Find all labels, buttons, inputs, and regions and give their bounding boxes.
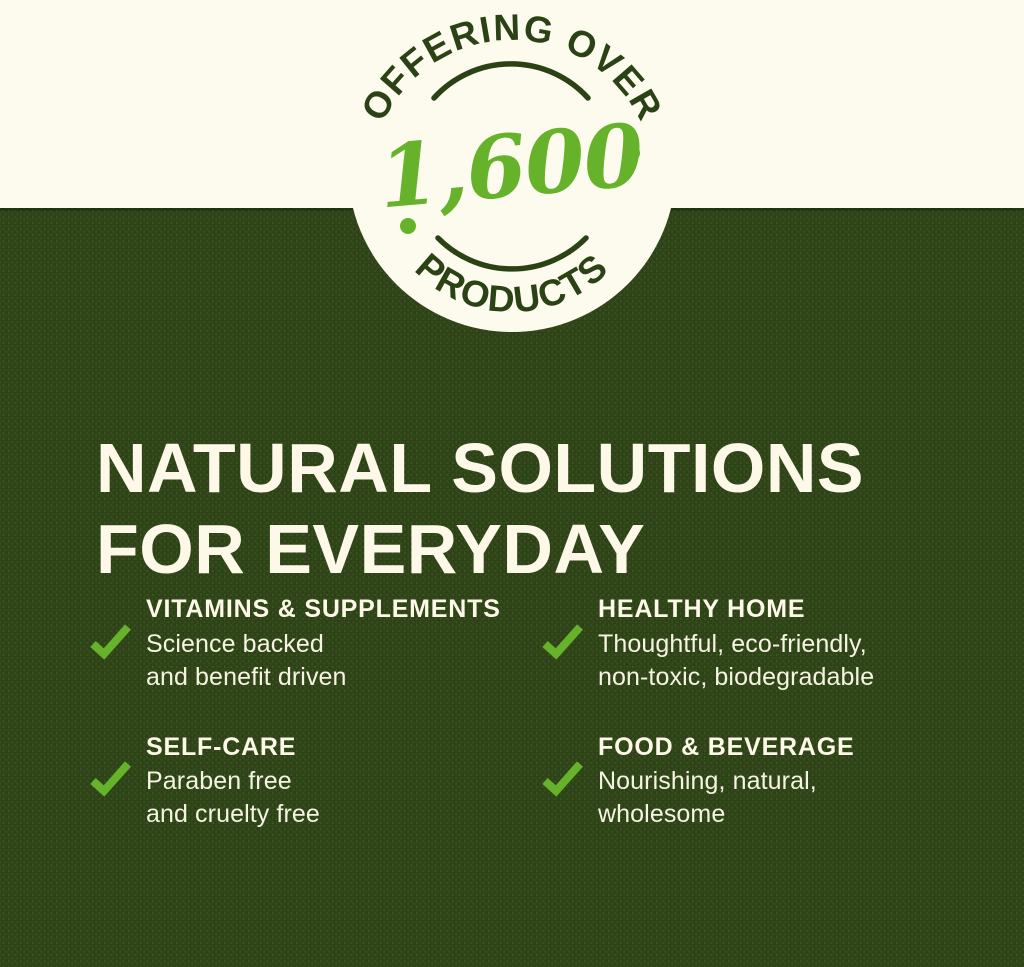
- badge-bottom-arc-text: PRODUCTS: [408, 245, 616, 320]
- feature-description-line: non-toxic, biodegradable: [598, 661, 874, 694]
- feature-description-line: Science backed: [146, 628, 501, 661]
- feature-item-healthy-home: HEALTHY HOME Thoughtful, eco-friendly, n…: [540, 592, 1000, 694]
- feature-title-line: SUPPLEMENTS: [304, 595, 500, 623]
- feature-description: Paraben free and cruelty free: [146, 765, 320, 831]
- feature-title: VITAMINS & SUPPLEMENTS: [146, 594, 501, 626]
- feature-description: Science backed and benefit driven: [146, 628, 501, 694]
- feature-title: HEALTHY HOME: [598, 594, 874, 626]
- feature-description: Thoughtful, eco-friendly, non-toxic, bio…: [598, 628, 874, 694]
- feature-item-vitamins-supplements: VITAMINS & SUPPLEMENTS Science backed an…: [88, 592, 540, 694]
- offering-over-badge: OFFERING OVER 1,600 PRODUCTS: [330, 0, 694, 350]
- badge-product-count: 1,600: [375, 105, 647, 229]
- check-icon: [88, 621, 132, 665]
- feature-title-line: SELF-CARE: [146, 733, 296, 761]
- badge-inner-arc-top: [434, 64, 588, 98]
- feature-description-line: wholesome: [598, 798, 854, 831]
- page-title-line-1: NATURAL SOLUTIONS: [96, 428, 976, 509]
- feature-description-line: Nourishing, natural,: [598, 765, 854, 798]
- feature-list: VITAMINS & SUPPLEMENTS Science backed an…: [88, 592, 1000, 831]
- feature-title-line: FOOD & BEVERAGE: [598, 733, 854, 761]
- feature-item-food-beverage: FOOD & BEVERAGE Nourishing, natural, who…: [540, 730, 1000, 832]
- feature-description: Nourishing, natural, wholesome: [598, 765, 854, 831]
- feature-body: SELF-CARE Paraben free and cruelty free: [146, 730, 320, 832]
- feature-title: SELF-CARE: [146, 732, 320, 764]
- feature-body: VITAMINS & SUPPLEMENTS Science backed an…: [146, 592, 501, 694]
- feature-body: HEALTHY HOME Thoughtful, eco-friendly, n…: [598, 592, 874, 694]
- feature-title: FOOD & BEVERAGE: [598, 732, 854, 764]
- feature-description-line: and benefit driven: [146, 661, 501, 694]
- feature-item-self-care: SELF-CARE Paraben free and cruelty free: [88, 730, 540, 832]
- badge-inner-arc-bottom: [438, 238, 586, 269]
- feature-title-line: HEALTHY HOME: [598, 595, 805, 623]
- check-icon: [88, 758, 132, 802]
- page-title-line-2: FOR EVERYDAY: [96, 509, 976, 590]
- feature-description-line: Thoughtful, eco-friendly,: [598, 628, 874, 661]
- feature-description-line: and cruelty free: [146, 798, 320, 831]
- feature-title-line: VITAMINS &: [146, 595, 297, 623]
- feature-description-line: Paraben free: [146, 765, 320, 798]
- page-title: NATURAL SOLUTIONS FOR EVERYDAY: [96, 428, 976, 590]
- check-icon: [540, 758, 584, 802]
- promo-poster: OFFERING OVER 1,600 PRODUCTS NATURAL SOL…: [0, 0, 1024, 967]
- check-icon: [540, 621, 584, 665]
- feature-body: FOOD & BEVERAGE Nourishing, natural, who…: [598, 730, 854, 832]
